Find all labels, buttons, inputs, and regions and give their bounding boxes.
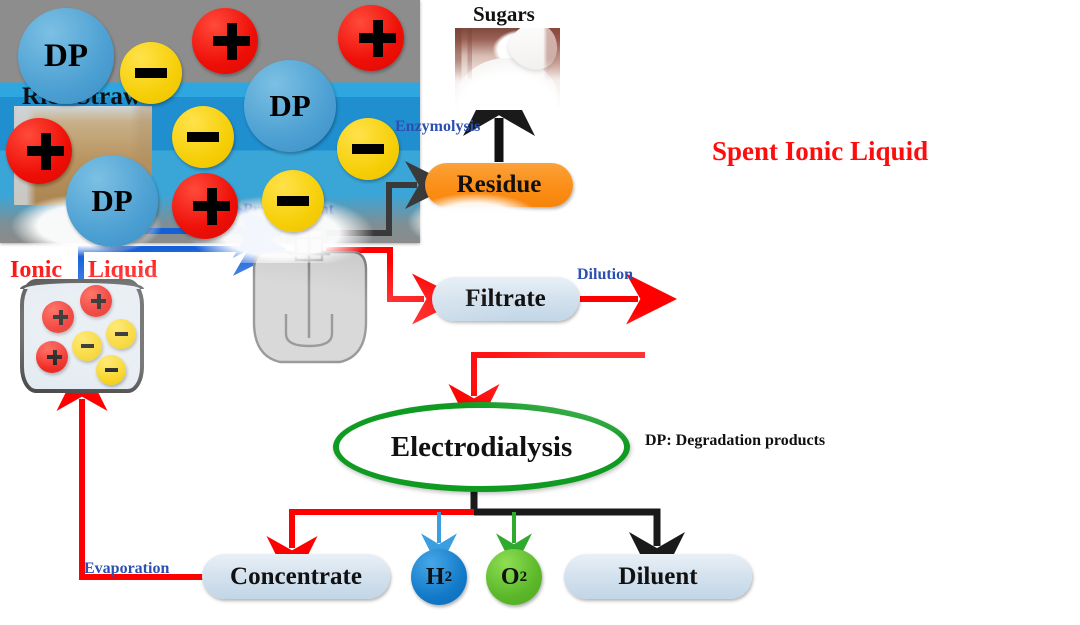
degradation-product-circle: DP <box>66 155 158 243</box>
cation-circle <box>172 173 238 239</box>
anion-circle <box>337 118 399 180</box>
cation-circle <box>192 8 258 74</box>
anion-circle <box>172 106 234 168</box>
degradation-product-circle: DP <box>244 60 336 152</box>
cation-circle <box>6 118 72 184</box>
sugars-title: Sugars <box>473 4 535 25</box>
anion-circle <box>120 42 182 104</box>
enzymolysis-label: Enzymolysis <box>395 119 480 135</box>
sugars-photo <box>455 28 560 110</box>
spent-ionic-liquid-title: Spent Ionic Liquid <box>712 138 928 165</box>
anion-circle <box>262 170 324 232</box>
dp-caption: DP: Degradation products <box>645 433 825 449</box>
cation-circle <box>338 5 404 71</box>
figure-canvas: Rice Straw Sugars Ionic Liquid <box>0 0 1080 625</box>
degradation-product-circle: DP <box>18 8 114 104</box>
